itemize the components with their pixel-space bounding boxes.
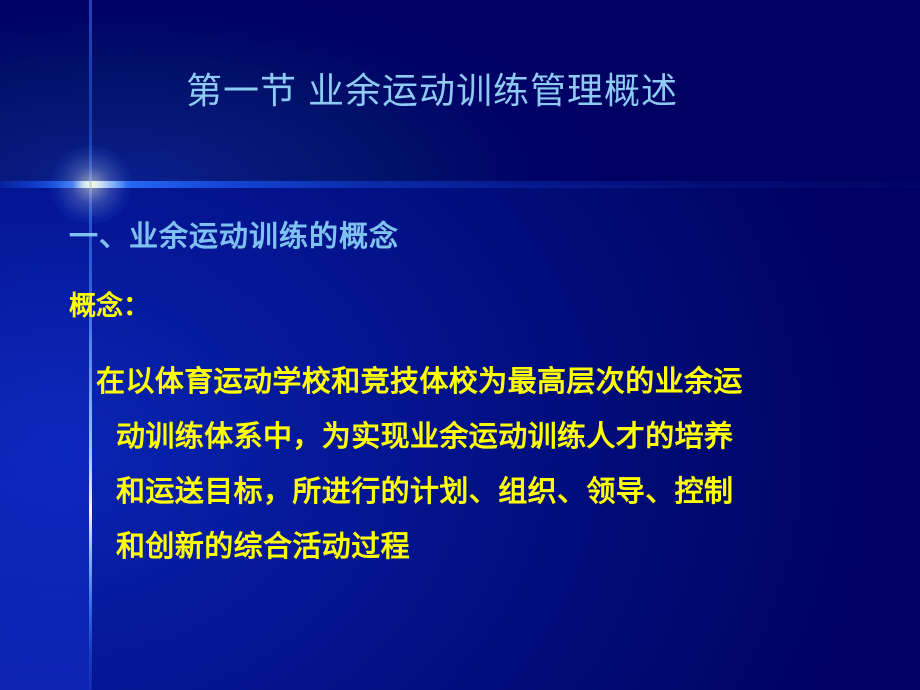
body-text-block: 在以体育运动学校和竞技体校为最高层次的业余运 动训练体系中，为实现业余运动训练人… xyxy=(96,355,886,575)
body-line: 和创新的综合活动过程 xyxy=(96,520,886,575)
concept-label: 概念： xyxy=(69,290,150,322)
presentation-slide: 第一节 业余运动训练管理概述 一、业余运动训练的概念 概念： 在以体育运动学校和… xyxy=(0,0,920,690)
body-line: 动训练体系中，为实现业余运动训练人才的培养 xyxy=(96,410,886,465)
body-line: 和运送目标，所进行的计划、组织、领导、控制 xyxy=(96,465,886,520)
horizontal-accent-line-icon xyxy=(0,181,920,188)
section-heading: 一、业余运动训练的概念 xyxy=(69,219,399,255)
body-line: 在以体育运动学校和竞技体校为最高层次的业余运 xyxy=(96,355,886,410)
slide-background-left-band xyxy=(0,185,90,690)
vertical-accent-line-icon xyxy=(89,0,92,690)
page-title: 第一节 业余运动训练管理概述 xyxy=(186,68,678,113)
